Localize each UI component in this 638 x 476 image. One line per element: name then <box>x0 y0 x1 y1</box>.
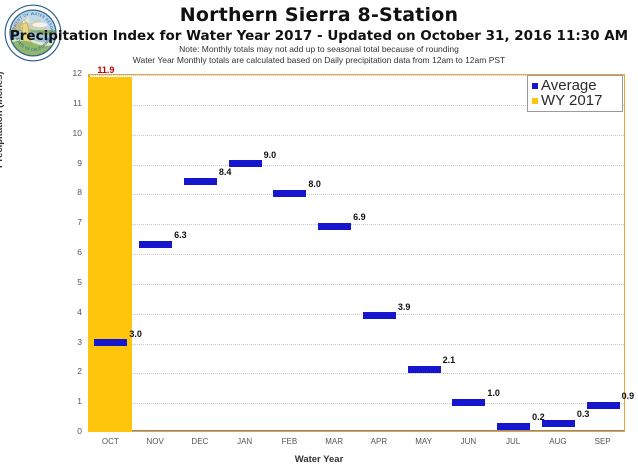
legend-label-average: Average <box>541 78 597 93</box>
average-value-label: 2.1 <box>443 355 456 365</box>
y-axis-tick-label: 9 <box>56 158 82 168</box>
average-value-label: 8.4 <box>219 167 232 177</box>
average-value-label: 6.9 <box>353 212 366 222</box>
gridline <box>89 284 624 285</box>
y-axis-tick-label: 7 <box>56 217 82 227</box>
y-axis-tick-label: 10 <box>56 128 82 138</box>
chart-note-rounding: Note: Monthly totals may not add up to s… <box>0 44 638 54</box>
gridline <box>89 135 624 136</box>
x-axis-tick-label: SEP <box>573 437 633 446</box>
average-value-label: 3.0 <box>129 329 142 339</box>
gridline <box>89 403 624 404</box>
y-axis-tick-label: 11 <box>56 98 82 108</box>
average-marker <box>408 366 441 373</box>
wy2017-bar <box>88 77 132 432</box>
gridline <box>89 194 624 195</box>
gridline <box>89 373 624 374</box>
average-marker <box>363 312 396 319</box>
x-axis-line <box>89 430 624 431</box>
chart-header: DEPARTMENT OF WATER RESOURCES STATE OF C… <box>0 0 638 68</box>
y-axis-tick-label: 5 <box>56 277 82 287</box>
precipitation-chart: DEPARTMENT OF WATER RESOURCES STATE OF C… <box>0 0 638 476</box>
y-axis-tick-label: 8 <box>56 187 82 197</box>
legend-swatch-average <box>532 83 538 89</box>
average-value-label: 1.0 <box>487 388 500 398</box>
average-value-label: 0.9 <box>622 391 635 401</box>
chart-legend: Average WY 2017 <box>527 75 623 112</box>
gridline <box>89 314 624 315</box>
x-axis-title: Water Year <box>0 454 638 465</box>
average-marker <box>94 339 127 346</box>
legend-swatch-wy2017 <box>532 98 538 104</box>
gridline <box>89 224 624 225</box>
gridline <box>89 344 624 345</box>
y-axis-title: Precipitation (inches) <box>0 71 5 168</box>
average-marker <box>542 420 575 427</box>
y-axis-tick-label: 1 <box>56 396 82 406</box>
chart-subtitle: Precipitation Index for Water Year 2017 … <box>0 28 638 44</box>
y-axis-tick-label: 2 <box>56 366 82 376</box>
average-marker <box>318 223 351 230</box>
plot-area <box>88 74 625 432</box>
average-marker <box>184 178 217 185</box>
average-value-label: 8.0 <box>308 179 321 189</box>
y-axis-tick-label: 4 <box>56 307 82 317</box>
y-axis-tick-label: 12 <box>56 68 82 78</box>
average-marker <box>497 423 530 430</box>
average-value-label: 3.9 <box>398 302 411 312</box>
average-value-label: 6.3 <box>174 230 187 240</box>
average-value-label: 0.3 <box>577 409 590 419</box>
gridline <box>89 254 624 255</box>
y-axis-tick-label: 3 <box>56 337 82 347</box>
legend-item-average[interactable]: Average <box>532 78 618 93</box>
average-marker <box>273 190 306 197</box>
y-axis-tick-label: 6 <box>56 247 82 257</box>
average-marker <box>452 399 485 406</box>
wy2017-value-label: 11.9 <box>97 65 114 75</box>
legend-label-wy2017: WY 2017 <box>541 93 602 108</box>
average-marker <box>229 160 262 167</box>
gridline <box>89 165 624 166</box>
average-value-label: 9.0 <box>264 150 277 160</box>
average-marker <box>587 402 620 409</box>
legend-item-wy2017[interactable]: WY 2017 <box>532 93 618 108</box>
y-axis-tick-label: 0 <box>56 426 82 436</box>
chart-note-daily-data: Water Year Monthly totals are calculated… <box>0 55 638 65</box>
average-marker <box>139 241 172 248</box>
chart-title: Northern Sierra 8-Station <box>0 4 638 26</box>
